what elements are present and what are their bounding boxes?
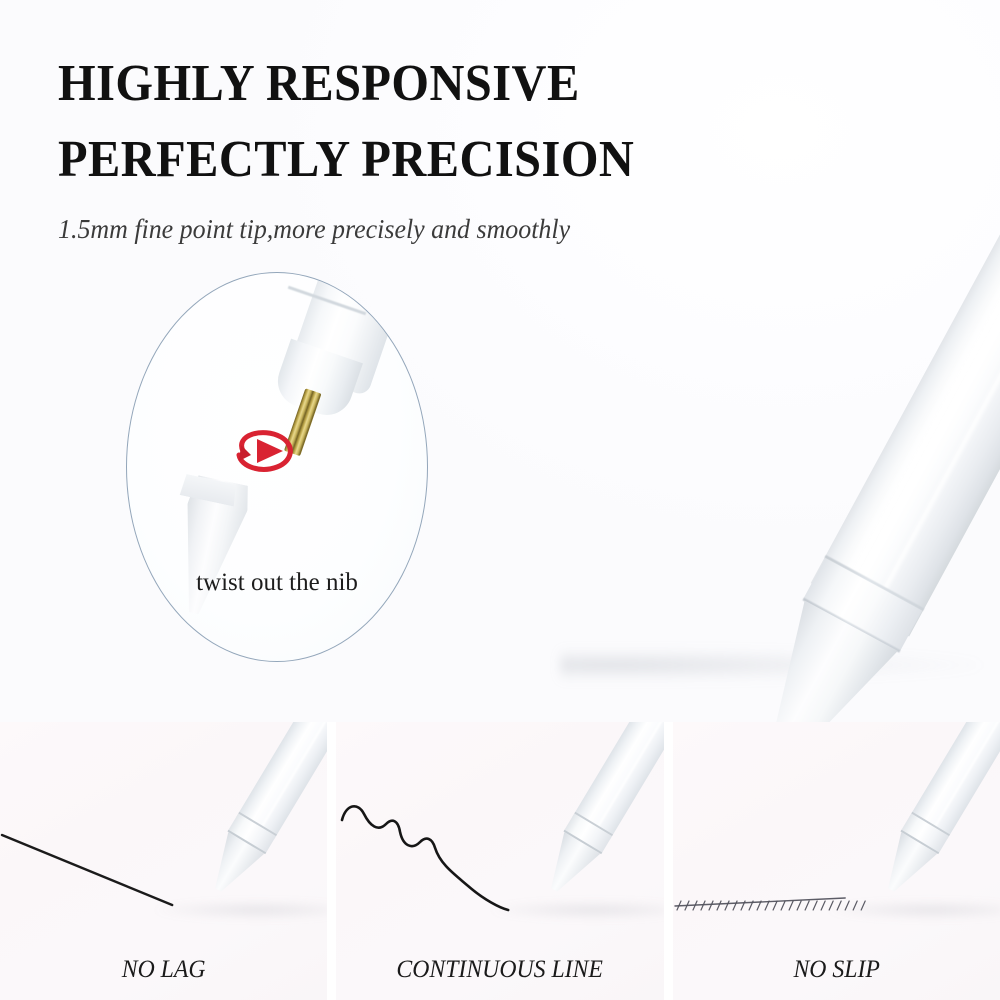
feature-panel-row: NO LAG CONTINUOUS LINE [0, 722, 1000, 1000]
feature-panel-no-slip: NO SLIP [673, 722, 1000, 1000]
panel-caption: NO LAG [8, 956, 319, 984]
hero-section: HIGHLY RESPONSIVE PERFECTLY PRECISION 1.… [0, 0, 1000, 722]
panel-pen-shadow [486, 900, 663, 920]
panel-caption: NO SLIP [681, 956, 992, 984]
feature-panel-no-lag: NO LAG [0, 722, 327, 1000]
page-title-line-1: HIGHLY RESPONSIVE [58, 58, 580, 110]
feature-panel-continuous-line: CONTINUOUS LINE [336, 722, 663, 1000]
panel-pen-shadow [150, 900, 327, 920]
nib-replacement-inset: twist out the nib [126, 272, 428, 662]
subtitle: 1.5mm fine point tip,more precisely and … [58, 214, 570, 245]
main-stylus-pen [725, 3, 1000, 722]
inset-caption: twist out the nib [127, 569, 427, 597]
red-rotation-arrow-icon [227, 421, 307, 483]
product-feature-image: HIGHLY RESPONSIVE PERFECTLY PRECISION 1.… [0, 0, 1000, 1000]
panel-pen-shadow [823, 900, 1000, 920]
panel-caption: CONTINUOUS LINE [345, 956, 656, 984]
page-title-line-2: PERFECTLY PRECISION [58, 134, 634, 186]
